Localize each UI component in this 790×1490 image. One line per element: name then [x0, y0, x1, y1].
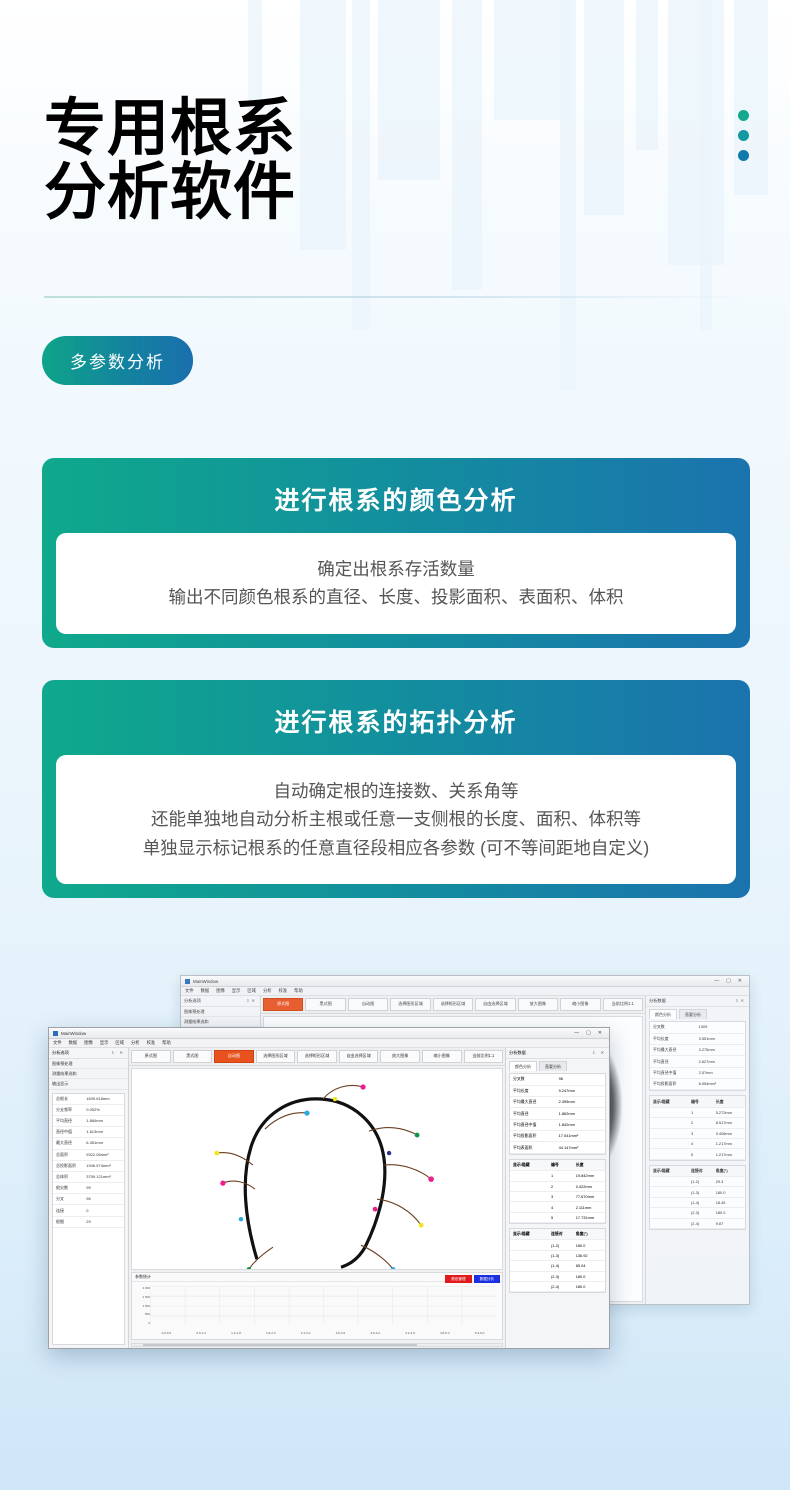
back-length-row[interactable]: 30.406mm: [650, 1129, 745, 1139]
angle-cell-2-1: (1-4): [548, 1261, 573, 1270]
back-right-stat-row: 平均直径中值2.57mm: [650, 1068, 745, 1079]
menu-item-7[interactable]: 帮助: [162, 1040, 171, 1046]
back-right-panel-header: 分析数据 ⇩✕: [646, 996, 749, 1007]
angle-cell-1-0: [510, 1251, 548, 1260]
back-right-stat-value-0: 1309: [696, 1022, 745, 1032]
app-icon: [53, 1031, 58, 1036]
angle-col-0: 显示/隐藏: [510, 1229, 548, 1239]
back-right-stats-table: 分叉数1309平均长度3.551mm平均最大直径3.275mm平均直径2.627…: [649, 1021, 746, 1091]
workarea: 分析选项 ⇩ ✕ 图像预处理测量结果选和输出显示 总根长1639.618mm分支…: [49, 1048, 609, 1348]
back-length-cell-3-0: [650, 1139, 688, 1148]
back-titlebar: MainWindow — ▢ ✕: [181, 976, 749, 987]
toolbar-button-5[interactable]: 自由选择区域: [339, 1050, 379, 1063]
left-stat-value-5: 9322.06mm²: [84, 1150, 124, 1160]
left-stat-value-4: 6.451mm: [84, 1138, 124, 1148]
chart-xtick-0: 0.0-0.6: [150, 1331, 183, 1335]
toolbar-button-1[interactable]: 黑式图: [173, 1050, 213, 1063]
right-stat-value-5: 17.041mm²: [556, 1131, 605, 1141]
right-stat-key-3: 平均直径: [510, 1108, 556, 1118]
back-angle-cell-1-2: 180.0: [713, 1187, 745, 1196]
length-cell-2-1: 3: [548, 1192, 573, 1201]
back-right-stat-value-2: 3.275mm: [696, 1045, 745, 1055]
right-stat-value-6: 44.147mm²: [556, 1142, 605, 1152]
chart-xtick-5: 3.0-3.6: [324, 1331, 357, 1335]
back-length-header: 显示/隐藏编号长度: [650, 1096, 745, 1107]
right-panel-header: 分析数据 ⇩ ✕: [506, 1048, 609, 1059]
left-section-0[interactable]: 图像预处理: [49, 1059, 128, 1069]
right-stat-key-6: 平均表面积: [510, 1142, 556, 1152]
back-angle-header: 显示/隐藏连接对角度(°): [650, 1166, 745, 1177]
left-stat-row: 分叉96: [53, 1194, 124, 1205]
back-menubar[interactable]: 文件数据图像显示区域分析校准帮助: [181, 987, 749, 996]
angle-row[interactable]: (2-4)180.0: [510, 1282, 605, 1292]
back-length-cell-4-1: 5: [688, 1149, 713, 1158]
left-panel-sections[interactable]: 图像预处理测量结果选和输出显示: [49, 1059, 128, 1090]
left-panel-header: 分析选项 ⇩ ✕: [49, 1048, 128, 1059]
length-col-1: 编号: [548, 1160, 573, 1170]
left-stat-key-6: 总投影面积: [53, 1161, 84, 1171]
back-length-cell-1-0: [650, 1118, 688, 1127]
center-area: 原式图黑式图自动图选择图形区域选择矩形区域自由选择区域放大图像缩小图像当前比例1…: [129, 1048, 505, 1348]
toolbar-button-3[interactable]: 选择图形区域: [390, 998, 430, 1011]
left-section-0[interactable]: 图像预处理: [181, 1007, 260, 1017]
menu-item-3[interactable]: 显示: [232, 988, 241, 994]
back-angle-cell-4-0: [650, 1219, 688, 1228]
back-angle-col-1: 连接对: [688, 1166, 713, 1176]
root-skeleton-graphic: [132, 1069, 502, 1269]
back-length-cell-3-1: 4: [688, 1139, 713, 1148]
right-stat-key-4: 平均直径中值: [510, 1120, 556, 1130]
menu-item-0[interactable]: 文件: [185, 988, 194, 994]
toolbar-button-4[interactable]: 选择矩形区域: [433, 998, 473, 1011]
card-2-line-2: 还能单独地自动分析主根或任意一支侧根的长度、面积、体积等: [70, 805, 722, 833]
back-right-stat-value-1: 3.551mm: [696, 1034, 745, 1044]
feature-card-topology-analysis: 进行根系的拓扑分析 自动确定根的连接数、关系角等 还能单独地自动分析主根或任意一…: [42, 680, 750, 898]
decorative-dots: [738, 110, 749, 161]
right-stat-value-4: 1.842mm: [556, 1120, 605, 1130]
back-right-stat-value-3: 2.627mm: [696, 1056, 745, 1066]
back-length-col-0: 显示/隐藏: [650, 1096, 688, 1106]
chart-ytick-4: 0: [134, 1321, 150, 1325]
left-stat-key-1: 分支频率: [53, 1105, 84, 1115]
window-controls[interactable]: — ▢ ✕: [574, 1030, 605, 1036]
left-stat-value-3: 1.613mm: [84, 1127, 124, 1137]
back-right-stat-key-2: 平均最大直径: [650, 1045, 696, 1055]
right-stats-table: 分叉数96平均长度9.247mm平均最大直径2.395mm平均直径1.862mm…: [509, 1073, 606, 1155]
chart-xtick-4: 2.4-3.0: [289, 1331, 322, 1335]
length-cell-1-1: 2: [548, 1182, 573, 1191]
right-stat-value-1: 9.247mm: [556, 1086, 605, 1096]
right-stat-row: 平均长度9.247mm: [510, 1086, 605, 1097]
back-right-stat-value-5: 8.954mm²: [696, 1079, 745, 1089]
menu-item-1[interactable]: 数据: [69, 1040, 78, 1046]
back-length-row[interactable]: 51.217mm: [650, 1149, 745, 1159]
toolbar-button-7[interactable]: 缩小图像: [422, 1050, 462, 1063]
menu-item-3[interactable]: 显示: [100, 1040, 109, 1046]
left-stat-value-6: 1946.574mm²: [84, 1161, 124, 1171]
right-panel-tabs[interactable]: 颜色分析直要分析: [506, 1059, 609, 1071]
menu-item-0[interactable]: 文件: [53, 1040, 62, 1046]
back-app-icon: [185, 979, 190, 984]
right-stat-row: 平均投影面积17.041mm²: [510, 1131, 605, 1142]
right-stat-row: 平均直径中值1.842mm: [510, 1120, 605, 1131]
menu-item-2[interactable]: 图像: [84, 1040, 93, 1046]
toolbar-button-4[interactable]: 选择矩形区域: [297, 1050, 337, 1063]
hero-divider: [44, 296, 744, 298]
left-stat-key-4: 最大直径: [53, 1138, 84, 1148]
card-2-title: 进行根系的拓扑分析: [56, 694, 736, 755]
left-stat-key-7: 总体积: [53, 1172, 84, 1182]
length-row[interactable]: 517.731mm: [510, 1213, 605, 1223]
length-row[interactable]: 377.670mm: [510, 1192, 605, 1202]
toolbar-button-8[interactable]: 当前比例1:1: [603, 998, 643, 1011]
toolbar-button-0[interactable]: 原式图: [131, 1050, 171, 1063]
toolbar-button-5[interactable]: 自由选择区域: [475, 998, 515, 1011]
chart-action-buttons[interactable]: 颜色管理 数据分析: [445, 1275, 500, 1283]
back-length-cell-2-2: 0.406mm: [713, 1129, 745, 1138]
back-length-cell-0-2: 5.272mm: [713, 1108, 745, 1117]
back-length-row[interactable]: 15.272mm: [650, 1108, 745, 1118]
right-panel-pin-icon[interactable]: ⇩ ✕: [592, 1050, 606, 1056]
angle-row[interactable]: (2-3)180.0: [510, 1272, 605, 1282]
maximize-icon[interactable]: ▢: [586, 1030, 591, 1036]
back-right-stat-row: 分叉数1309: [650, 1022, 745, 1033]
back-window-title: MainWindow: [193, 979, 218, 984]
back-angle-cell-2-1: (1-4): [688, 1198, 713, 1207]
left-stat-row: 分支频率0.052%: [53, 1105, 124, 1116]
right-panel: 分析数据 ⇩ ✕ 颜色分析直要分析 分叉数96平均长度9.247mm平均最大直径…: [505, 1048, 609, 1348]
right-tab-1[interactable]: 直要分析: [679, 1009, 707, 1019]
back-length-col-1: 编号: [688, 1096, 713, 1106]
angle-cell-4-2: 180.0: [573, 1282, 605, 1291]
back-right-panel: 分析数据 ⇩✕ 颜色分析直要分析 分叉数1309平均长度3.551mm平均最大直…: [645, 996, 749, 1304]
titlebar: MainWindow — ▢ ✕: [49, 1028, 609, 1039]
right-stat-value-2: 2.395mm: [556, 1097, 605, 1107]
back-length-cell-0-0: [650, 1108, 688, 1117]
right-angle-table[interactable]: 显示/隐藏连接对角度(°)(1-2)180.0(1-3)136.92(1-4)6…: [509, 1228, 606, 1293]
card-1-line-2: 输出不同颜色根系的直径、长度、投影面积、表面积、体积: [70, 583, 722, 611]
back-length-row[interactable]: 28.517mm: [650, 1118, 745, 1128]
right-stat-value-3: 1.862mm: [556, 1108, 605, 1118]
back-right-stat-key-4: 平均直径中值: [650, 1068, 696, 1078]
back-angle-cell-3-1: (2-3): [688, 1208, 713, 1217]
left-stat-key-0: 总根长: [53, 1094, 84, 1104]
angle-header: 显示/隐藏连接对角度(°): [510, 1229, 605, 1240]
back-angle-row[interactable]: (1-2)29.3: [650, 1177, 745, 1187]
left-stat-row: 最大直径6.451mm: [53, 1138, 124, 1149]
angle-cell-0-0: [510, 1240, 548, 1249]
badge-multi-parameter: 多参数分析: [42, 336, 193, 385]
left-stat-value-2: 1.884mm: [84, 1116, 124, 1126]
chart-ytick-3: 500: [134, 1312, 150, 1316]
left-section-1[interactable]: 测量结果选和: [181, 1017, 260, 1027]
left-stat-value-8: 99: [84, 1183, 124, 1193]
chart-xtick-7: 4.2-4.8: [394, 1331, 427, 1335]
back-right-stat-key-1: 平均长度: [650, 1034, 696, 1044]
chart-xtick-9: 5.4-6.0: [463, 1331, 496, 1335]
color-management-button[interactable]: 颜色管理: [445, 1275, 471, 1283]
back-right-stat-row: 平均投影面积8.954mm²: [650, 1079, 745, 1090]
back-right-tabs[interactable]: 颜色分析直要分析: [646, 1007, 749, 1019]
close-icon[interactable]: ✕: [598, 1030, 602, 1036]
back-right-stat-key-0: 分叉数: [650, 1022, 696, 1032]
left-stat-value-9: 96: [84, 1194, 124, 1204]
card-2-line-3: 单独显示标记根系的任意直径段相应各参数 (可不等间距地自定义): [70, 834, 722, 862]
chart-ytick-0: 3 000: [134, 1286, 150, 1290]
right-stat-key-2: 平均最大直径: [510, 1097, 556, 1107]
hero-title-line-2: 分析软件: [44, 160, 664, 224]
back-angle-cell-2-0: [650, 1198, 688, 1207]
angle-cell-2-2: 65.04: [573, 1261, 605, 1270]
menu-item-4[interactable]: 区域: [247, 988, 256, 994]
length-cell-0-1: 1: [548, 1171, 573, 1180]
left-stat-value-11: 29: [84, 1217, 124, 1227]
back-window-controls[interactable]: — ▢ ✕: [714, 978, 745, 984]
parameter-chart-panel: 参数统计 颜色管理 数据分析 3 0002 5001 5005000 2629.…: [131, 1272, 503, 1340]
back-length-cell-2-0: [650, 1129, 688, 1138]
angle-cell-3-1: (2-3): [548, 1272, 573, 1281]
left-stat-value-7: 3759.121mm²: [84, 1172, 124, 1182]
angle-cell-4-1: (2-4): [548, 1282, 573, 1291]
length-cell-3-2: 2.111mm: [573, 1202, 605, 1211]
left-stat-key-10: 连接: [53, 1205, 84, 1215]
toolbar-button-6[interactable]: 放大图像: [518, 998, 558, 1011]
back-angle-col-0: 显示/隐藏: [650, 1166, 688, 1176]
card-2-body: 自动确定根的连接数、关系角等 还能单独地自动分析主根或任意一支侧根的长度、面积、…: [56, 755, 736, 884]
left-stat-key-8: 根尖数: [53, 1183, 84, 1193]
image-canvas[interactable]: [131, 1068, 503, 1270]
left-stat-row: 总投影面积1946.574mm²: [53, 1161, 124, 1172]
length-cell-2-0: [510, 1192, 548, 1201]
angle-col-2: 角度(°): [573, 1229, 605, 1239]
left-stat-key-11: 根细: [53, 1217, 84, 1227]
length-cell-4-2: 17.731mm: [573, 1213, 605, 1222]
back-angle-cell-4-1: (2-4): [688, 1219, 713, 1228]
left-stat-value-1: 0.052%: [84, 1105, 124, 1115]
back-angle-cell-2-2: 18.45: [713, 1198, 745, 1207]
left-stat-row: 直径中值1.613mm: [53, 1127, 124, 1138]
right-tab-0[interactable]: 颜色分析: [509, 1061, 537, 1071]
left-panel: 分析选项 ⇩ ✕ 图像预处理测量结果选和输出显示 总根长1639.618mm分支…: [49, 1048, 129, 1348]
back-length-cell-1-2: 8.517mm: [713, 1118, 745, 1127]
card-1-body: 确定出根系存活数量 输出不同颜色根系的直径、长度、投影面积、表面积、体积: [56, 533, 736, 634]
angle-cell-3-0: [510, 1272, 548, 1281]
minimize-icon[interactable]: —: [574, 1030, 579, 1036]
back-length-cell-3-2: 1.217mm: [713, 1139, 745, 1148]
menu-item-2[interactable]: 图像: [216, 988, 225, 994]
toolbar-button-3[interactable]: 选择图形区域: [256, 1050, 296, 1063]
back-pin-icon[interactable]: ⇩✕: [246, 998, 257, 1004]
length-col-2: 长度: [573, 1160, 605, 1170]
left-stat-row: 根尖数99: [53, 1183, 124, 1194]
back-angle-row[interactable]: (1-3)180.0: [650, 1187, 745, 1197]
left-panel-pin-icon[interactable]: ⇩ ✕: [111, 1050, 125, 1056]
back-right-panel-title: 分析数据: [649, 998, 666, 1004]
menu-item-6[interactable]: 校准: [147, 1040, 156, 1046]
right-stat-key-5: 平均投影面积: [510, 1131, 556, 1141]
toolbar-button-2[interactable]: 自动图: [348, 998, 388, 1011]
menu-item-6[interactable]: 校准: [279, 988, 288, 994]
left-stat-key-3: 直径中值: [53, 1127, 84, 1137]
back-angle-cell-1-1: (1-3): [688, 1187, 713, 1196]
background-bands: [0, 0, 790, 470]
back-right-pin-icon[interactable]: ⇩✕: [735, 998, 746, 1004]
left-stat-row: 根细29: [53, 1217, 124, 1228]
back-angle-cell-0-2: 29.3: [713, 1177, 745, 1186]
left-stat-row: 总根长1639.618mm: [53, 1094, 124, 1105]
back-angle-row[interactable]: (2-4)9.87: [650, 1219, 745, 1229]
card-2-line-1: 自动确定根的连接数、关系角等: [70, 777, 722, 805]
toolbar-button-6[interactable]: 放大图像: [380, 1050, 420, 1063]
menu-item-4[interactable]: 区域: [115, 1040, 124, 1046]
right-stat-row: 平均直径1.862mm: [510, 1108, 605, 1119]
length-cell-0-0: [510, 1171, 548, 1180]
angle-cell-3-2: 180.0: [573, 1272, 605, 1281]
feature-card-color-analysis: 进行根系的颜色分析 确定出根系存活数量 输出不同颜色根系的直径、长度、投影面积、…: [42, 458, 750, 648]
left-stat-key-9: 分叉: [53, 1194, 84, 1204]
right-tab-1[interactable]: 直要分析: [539, 1061, 567, 1071]
left-stat-row: 总面积9322.06mm²: [53, 1150, 124, 1161]
left-stat-value-0: 1639.618mm: [84, 1094, 124, 1104]
left-panel-title: 分析选项: [52, 1050, 69, 1056]
length-cell-1-0: [510, 1182, 548, 1191]
back-angle-row[interactable]: (2-3)180.0: [650, 1208, 745, 1218]
right-stat-row: 平均表面积44.147mm²: [510, 1142, 605, 1153]
chart-horizontal-scrollbar[interactable]: [131, 1343, 503, 1347]
back-angle-cell-0-1: (1-2): [688, 1177, 713, 1186]
chart-xtick-3: 1.8-2.4: [254, 1331, 287, 1335]
back-angle-col-2: 角度(°): [713, 1166, 745, 1176]
back-right-length-table[interactable]: 显示/隐藏编号长度15.272mm28.517mm30.406mm41.217m…: [649, 1095, 746, 1160]
back-length-cell-1-1: 2: [688, 1118, 713, 1127]
back-right-stat-value-4: 2.57mm: [696, 1068, 745, 1078]
angle-row[interactable]: (1-4)65.04: [510, 1261, 605, 1271]
toolbar-button-0[interactable]: 原式图: [263, 998, 303, 1011]
left-stat-row: 连接0: [53, 1205, 124, 1216]
right-tab-0[interactable]: 颜色分析: [649, 1009, 677, 1019]
back-angle-row[interactable]: (1-4)18.45: [650, 1198, 745, 1208]
chart-ytick-1: 2 500: [134, 1295, 150, 1299]
app-window[interactable]: MainWindow — ▢ ✕ 文件数据图像显示区域分析校准帮助 分析选项 ⇩…: [48, 1027, 610, 1349]
right-panel-title: 分析数据: [509, 1050, 526, 1056]
chart-xtick-2: 1.2-1.8: [220, 1331, 253, 1335]
toolbar-button-1[interactable]: 黑式图: [305, 998, 345, 1011]
length-row[interactable]: 42.111mm: [510, 1202, 605, 1212]
chart-plot-area: 2629.3732815.7482253.3882293.3052500.779…: [150, 1286, 496, 1325]
left-section-2[interactable]: 输出显示: [49, 1079, 128, 1089]
angle-cell-4-0: [510, 1282, 548, 1291]
menu-item-7[interactable]: 帮助: [294, 988, 303, 994]
window-title: MainWindow: [61, 1031, 86, 1036]
length-cell-3-0: [510, 1202, 548, 1211]
menu-item-5[interactable]: 分析: [131, 1040, 140, 1046]
back-right-stat-row: 平均长度3.551mm: [650, 1034, 745, 1045]
right-stat-key-0: 分叉数: [510, 1074, 556, 1084]
card-1-line-1: 确定出根系存活数量: [70, 555, 722, 583]
hero-title-line-1: 专用根系: [44, 96, 664, 160]
back-left-panel-header: 分析选项 ⇩✕: [181, 996, 260, 1007]
angle-row[interactable]: (1-3)136.92: [510, 1251, 605, 1261]
length-cell-4-1: 5: [548, 1213, 573, 1222]
left-stat-key-2: 平均直径: [53, 1116, 84, 1126]
back-angle-cell-3-2: 180.0: [713, 1208, 745, 1217]
back-length-cell-0-1: 1: [688, 1108, 713, 1117]
back-right-stat-row: 平均直径2.627mm: [650, 1056, 745, 1067]
right-stat-value-0: 96: [556, 1074, 605, 1084]
back-angle-cell-1-0: [650, 1187, 688, 1196]
chart-xtick-8: 4.8-5.4: [428, 1331, 461, 1335]
back-length-cell-4-0: [650, 1149, 688, 1158]
back-angle-cell-4-2: 9.87: [713, 1219, 745, 1228]
back-length-cell-4-2: 1.217mm: [713, 1149, 745, 1158]
back-left-panel-title: 分析选项: [184, 998, 201, 1004]
chart-x-axis: 0.0-0.60.6-1.21.2-1.81.8-2.42.4-3.03.0-3…: [150, 1331, 496, 1335]
right-length-table[interactable]: 显示/隐藏编号长度119.842mm20.422mm377.670mm42.11…: [509, 1159, 606, 1224]
back-minimize-icon[interactable]: —: [714, 978, 719, 984]
angle-row[interactable]: (1-2)180.0: [510, 1240, 605, 1250]
angle-cell-1-1: (1-3): [548, 1251, 573, 1260]
back-length-col-2: 长度: [713, 1096, 745, 1106]
menubar[interactable]: 文件数据图像显示区域分析校准帮助: [49, 1039, 609, 1048]
length-cell-3-1: 4: [548, 1202, 573, 1211]
back-angle-cell-3-0: [650, 1208, 688, 1217]
left-stat-key-5: 总面积: [53, 1150, 84, 1160]
left-panel-stats-table: 总根长1639.618mm分支频率0.052%平均直径1.884mm直径中值1.…: [52, 1093, 125, 1345]
length-row[interactable]: 20.422mm: [510, 1182, 605, 1192]
back-angle-cell-0-0: [650, 1177, 688, 1186]
left-stat-row: 平均直径1.884mm: [53, 1116, 124, 1127]
toolbar-button-7[interactable]: 缩小图像: [560, 998, 600, 1011]
back-maximize-icon[interactable]: ▢: [726, 978, 731, 984]
back-right-angle-table[interactable]: 显示/隐藏连接对角度(°)(1-2)29.3(1-3)180.0(1-4)18.…: [649, 1165, 746, 1230]
angle-cell-0-1: (1-2): [548, 1240, 573, 1249]
back-length-cell-2-1: 3: [688, 1129, 713, 1138]
angle-cell-0-2: 180.0: [573, 1240, 605, 1249]
menu-item-5[interactable]: 分析: [263, 988, 272, 994]
back-length-row[interactable]: 41.217mm: [650, 1139, 745, 1149]
data-analysis-button[interactable]: 数据分析: [474, 1275, 500, 1283]
toolbar-button-2[interactable]: 自动图: [214, 1050, 254, 1063]
toolbar[interactable]: 原式图黑式图自动图选择图形区域选择矩形区域自由选择区域放大图像缩小图像当前比例1…: [129, 1048, 505, 1066]
length-cell-0-2: 19.842mm: [573, 1171, 605, 1180]
length-row[interactable]: 119.842mm: [510, 1171, 605, 1181]
chart-y-axis: 3 0002 5001 5005000: [134, 1286, 150, 1325]
menu-item-1[interactable]: 数据: [201, 988, 210, 994]
left-stat-row: 总体积3759.121mm²: [53, 1172, 124, 1183]
right-stat-row: 分叉数96: [510, 1074, 605, 1085]
toolbar-button-8[interactable]: 当前比例1:1: [464, 1050, 504, 1063]
card-1-title: 进行根系的颜色分析: [56, 472, 736, 533]
back-toolbar[interactable]: 原式图黑式图自动图选择图形区域选择矩形区域自由选择区域放大图像缩小图像当前比例1…: [261, 996, 645, 1014]
left-stat-value-10: 0: [84, 1205, 124, 1215]
left-section-1[interactable]: 测量结果选和: [49, 1069, 128, 1079]
length-header: 显示/隐藏编号长度: [510, 1160, 605, 1171]
angle-col-1: 连接对: [548, 1229, 573, 1239]
right-stat-key-1: 平均长度: [510, 1086, 556, 1096]
length-cell-4-0: [510, 1213, 548, 1222]
angle-cell-2-0: [510, 1261, 548, 1270]
chart-xtick-1: 0.6-1.2: [185, 1331, 218, 1335]
chart-ytick-2: 1 500: [134, 1304, 150, 1308]
right-stat-row: 平均最大直径2.395mm: [510, 1097, 605, 1108]
back-close-icon[interactable]: ✕: [738, 978, 742, 984]
software-screenshots: MainWindow — ▢ ✕ 文件数据图像显示区域分析校准帮助 分析选项 ⇩…: [0, 955, 790, 1415]
back-right-stat-key-3: 平均直径: [650, 1056, 696, 1066]
chart-xtick-6: 3.6-4.2: [359, 1331, 392, 1335]
hero-title: 专用根系 分析软件: [44, 96, 664, 224]
angle-cell-1-2: 136.92: [573, 1251, 605, 1260]
back-right-stat-row: 平均最大直径3.275mm: [650, 1045, 745, 1056]
